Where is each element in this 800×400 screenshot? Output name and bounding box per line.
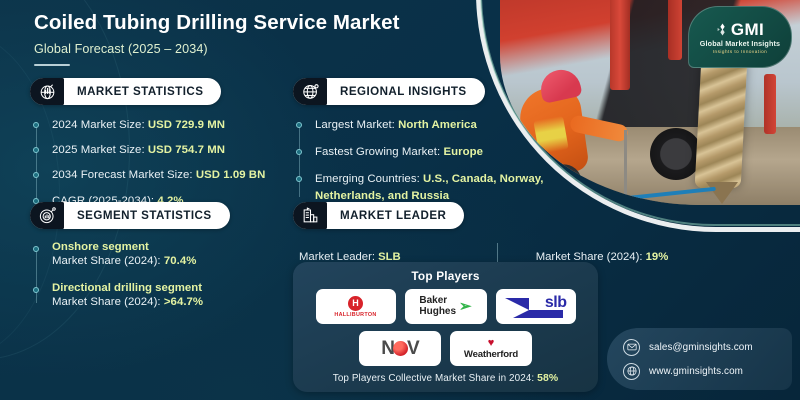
top-players-footer-value: 58% [537, 373, 558, 384]
bullet-dot [33, 287, 39, 293]
logo-nov: N V [359, 331, 441, 366]
section-regional-insights: REGIONAL INSIGHTS Largest Market: North … [293, 78, 583, 204]
baker-hughes-line2: Hughes [419, 306, 456, 317]
top-players-footer-label: Top Players Collective Market Share in 2… [333, 373, 534, 384]
market-leader-name-cell: Market Leader: SLB [299, 251, 401, 263]
market-statistics-list: 2024 Market Size: USD 729.9 MN 2025 Mark… [30, 117, 275, 209]
contact-website[interactable]: www.gminsights.com [649, 366, 743, 377]
baker-hughes-mark: ➢ [459, 299, 472, 314]
market-leader-share-label: Market Share (2024): [536, 251, 643, 263]
stat-value: USD 754.7 MN [148, 144, 225, 156]
bullet-dot [33, 122, 39, 128]
contact-website-row[interactable]: www.gminsights.com [623, 363, 792, 380]
segment-statistics-list: Onshore segment Market Share (2024): 70.… [30, 241, 275, 310]
gmi-logo-top: GMI [716, 21, 764, 38]
region-value: North America [398, 119, 477, 131]
header: Coiled Tubing Drilling Service Market Gl… [34, 12, 594, 66]
bullet-dot [296, 122, 302, 128]
logo-weatherford: ♥ Weatherford [450, 331, 532, 366]
logo-baker-hughes: Baker Hughes ➢ [405, 289, 487, 324]
bullet-dot [33, 172, 39, 178]
blue-pipe [596, 187, 716, 204]
regional-insights-heading: REGIONAL INSIGHTS [293, 78, 485, 105]
auger-screw [695, 58, 748, 188]
contact-email[interactable]: sales@gminsights.com [649, 342, 753, 353]
segment-label: Market Share (2024): [52, 255, 161, 267]
stat-value: USD 1.09 BN [196, 169, 266, 181]
podium-icon [293, 202, 327, 229]
connector-rail [299, 124, 300, 197]
stat-label: 2024 Market Size: [52, 119, 145, 131]
connector-rail [36, 248, 37, 303]
page-subtitle: Global Forecast (2025 – 2034) [34, 42, 594, 56]
nov-circle-icon [393, 341, 408, 356]
market-statistics-heading: MARKET STATISTICS [30, 78, 221, 105]
list-item: Emerging Countries: U.S., Canada, Norway… [315, 171, 583, 203]
stat-label: 2034 Forecast Market Size: [52, 169, 193, 181]
bullet-dot [33, 147, 39, 153]
region-label: Largest Market: [315, 119, 395, 131]
section-market-leader: MARKET LEADER Market Leader: SLB Market … [293, 202, 763, 270]
globe-icon [623, 363, 640, 380]
segment-statistics-heading: SEGMENT STATISTICS [30, 202, 230, 229]
segment-label: Market Share (2024): [52, 296, 161, 308]
rig-post [764, 74, 776, 134]
weatherford-mark: ♥ [488, 338, 495, 349]
drill-rod [624, 130, 627, 202]
globe-chart-icon [30, 78, 64, 105]
market-leader-heading: MARKET LEADER [293, 202, 464, 229]
list-item: Fastest Growing Market: Europe [315, 144, 583, 160]
market-statistics-label: MARKET STATISTICS [64, 85, 203, 98]
infographic-canvas: GMI Global Market Insights Insights to I… [0, 0, 800, 400]
halliburton-mark: H [348, 296, 363, 311]
truck-wheel [650, 128, 702, 180]
gmi-logo-tagline: Insights to Innovation [713, 49, 767, 54]
market-leader-label: MARKET LEADER [327, 209, 446, 222]
list-item: 2034 Forecast Market Size: USD 1.09 BN [52, 167, 275, 183]
gmi-logo-name: GMI [731, 21, 764, 38]
logo-halliburton: H HALLIBURTON [316, 289, 396, 324]
list-item: 2025 Market Size: USD 754.7 MN [52, 142, 275, 158]
region-value: Europe [443, 146, 483, 158]
segment-value: >64.7% [164, 296, 203, 308]
list-item: Onshore segment Market Share (2024): 70.… [52, 241, 275, 269]
section-segment-statistics: SEGMENT STATISTICS Onshore segment Marke… [30, 202, 275, 310]
auger-tip [706, 182, 738, 204]
bullet-dot [296, 149, 302, 155]
logo-slb: slb [496, 289, 576, 324]
region-label: Emerging Countries: [315, 173, 420, 185]
region-label: Fastest Growing Market: [315, 146, 440, 158]
market-leader-share-value: 19% [646, 251, 669, 263]
market-leader-name-value: SLB [378, 251, 401, 263]
regional-insights-label: REGIONAL INSIGHTS [327, 85, 467, 98]
weatherford-text: Weatherford [464, 349, 518, 360]
stat-value: USD 729.9 MN [148, 119, 225, 131]
list-item: Largest Market: North America [315, 117, 583, 133]
segment-title: Onshore segment [52, 241, 275, 253]
top-players-logo-row: N V ♥ Weatherford [304, 331, 587, 366]
gmi-logo-fullname: Global Market Insights [700, 39, 780, 48]
rig-post [610, 0, 630, 90]
segment-value: 70.4% [164, 255, 197, 267]
gmi-diamond-icon [716, 23, 729, 36]
market-leader-share-cell: Market Share (2024): 19% [536, 251, 669, 263]
title-underline [34, 64, 70, 66]
envelope-icon [623, 339, 640, 356]
list-item: 2024 Market Size: USD 729.9 MN [52, 117, 275, 133]
top-players-title: Top Players [304, 269, 587, 283]
halliburton-text: HALLIBURTON [334, 312, 376, 318]
globe-icon [293, 78, 327, 105]
bullet-dot [33, 246, 39, 252]
connector-rail [36, 124, 37, 202]
segment-statistics-label: SEGMENT STATISTICS [64, 209, 212, 222]
rig-post [668, 0, 682, 60]
contact-block: sales@gminsights.com www.gminsights.com [607, 328, 792, 390]
slb-text: slb [545, 295, 567, 311]
page-title: Coiled Tubing Drilling Service Market [34, 12, 594, 35]
gmi-logo: GMI Global Market Insights Insights to I… [688, 6, 792, 68]
section-market-statistics: MARKET STATISTICS 2024 Market Size: USD … [30, 78, 275, 209]
list-item: Directional drilling segment Market Shar… [52, 282, 275, 310]
bullet-dot [296, 176, 302, 182]
segment-title: Directional drilling segment [52, 282, 275, 294]
top-players-logo-row: H HALLIBURTON Baker Hughes ➢ [304, 289, 587, 324]
contact-email-row[interactable]: sales@gminsights.com [623, 339, 792, 356]
regional-insights-list: Largest Market: North America Fastest Gr… [293, 117, 583, 204]
target-chart-icon [30, 202, 64, 229]
panel-top-players: Top Players H HALLIBURTON Baker Hughes ➢ [293, 262, 598, 392]
stat-label: 2025 Market Size: [52, 144, 145, 156]
top-players-footer: Top Players Collective Market Share in 2… [304, 373, 587, 384]
market-leader-name-label: Market Leader: [299, 251, 375, 263]
